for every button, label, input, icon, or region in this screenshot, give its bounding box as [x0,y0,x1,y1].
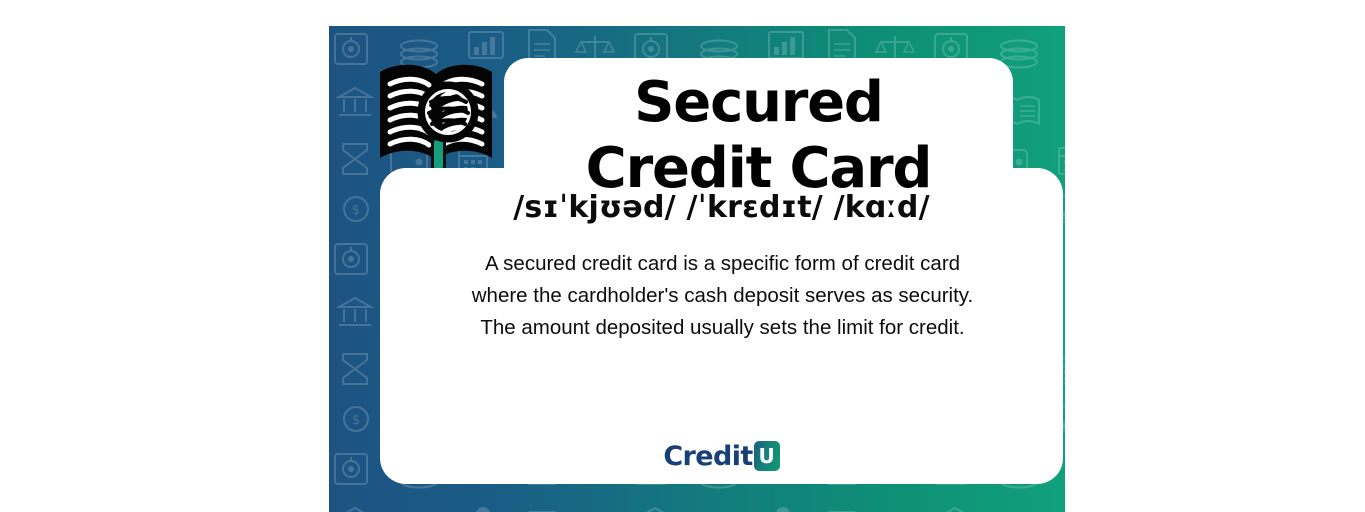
definition-line-2: where the cardholder's cash deposit serv… [395,280,1050,312]
page-title: Secured Credit Card [504,70,1013,202]
definition-text: A secured credit card is a specific form… [395,248,1050,344]
open-book-magnifier-icon [376,58,498,178]
definition-line-1: A secured credit card is a specific form… [395,248,1050,280]
title-line-1: Secured [504,70,1013,136]
brand-logo-badge-letter: U [759,446,775,466]
gradient-banner: $ [329,26,1065,512]
brand-logo-badge: U [754,441,780,471]
brand-logo: Credit U [380,441,1063,471]
screenshot-root: $ [0,0,1365,512]
brand-logo-word: Credit [663,443,752,470]
phonetic-transcription: /sɪˈkjʊəd/ /ˈkrɛdɪt/ /kɑːd/ [380,189,1063,227]
definition-line-3: The amount deposited usually sets the li… [395,312,1050,344]
